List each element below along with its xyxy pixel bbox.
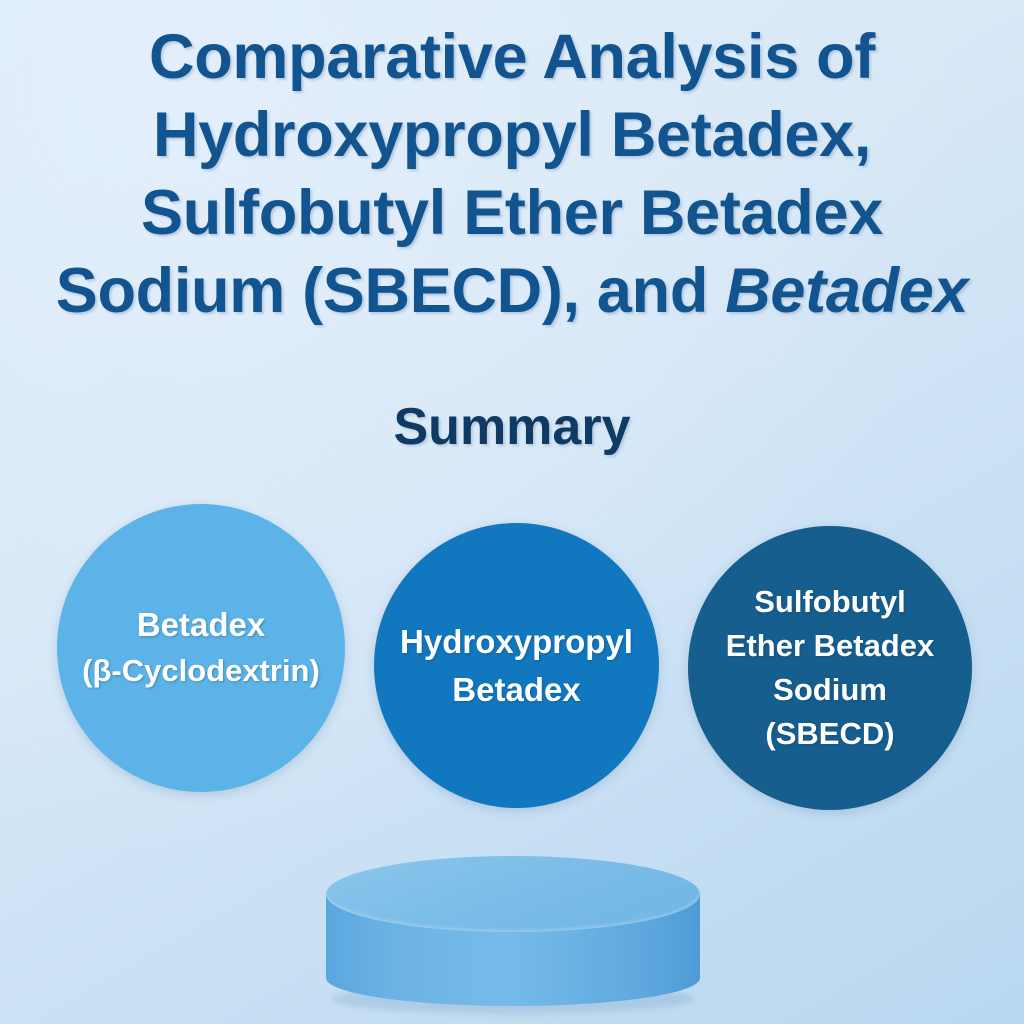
title-line-1: Comparative Analysis of	[0, 18, 1024, 96]
bubble-hydroxypropyl-betadex: Hydroxypropyl Betadex	[374, 523, 659, 808]
bubble-betadex: Betadex (β-Cyclodextrin)	[57, 504, 345, 792]
title-line-3: Sulfobutyl Ether Betadex	[0, 174, 1024, 252]
title-line-4-text: Sodium (SBECD), and	[56, 256, 726, 326]
bubble-sbecd-line-3: Sodium	[773, 668, 887, 712]
bubble-hpb-line-2: Betadex	[452, 666, 580, 714]
podium-top-surface	[326, 856, 700, 932]
title-line-2: Hydroxypropyl Betadex,	[0, 96, 1024, 174]
bubble-sbecd-line-1: Sulfobutyl	[754, 580, 906, 624]
bubble-betadex-line-2: (β-Cyclodextrin)	[82, 648, 320, 694]
bubble-betadex-line-1: Betadex	[137, 602, 265, 648]
bubble-sbecd-line-2: Ether Betadex	[726, 624, 934, 668]
podium-cylinder	[326, 856, 700, 1018]
bubble-sbecd-line-4: (SBECD)	[765, 712, 894, 756]
infographic-canvas: Comparative Analysis of Hydroxypropyl Be…	[0, 0, 1024, 1024]
title-line-4-emphasis: Betadex	[725, 256, 968, 326]
bubble-hpb-line-1: Hydroxypropyl	[400, 618, 633, 666]
bubble-sulfobutyl-ether-betadex-sodium: Sulfobutyl Ether Betadex Sodium (SBECD)	[688, 526, 972, 810]
title-line-4: Sodium (SBECD), and Betadex	[0, 252, 1024, 330]
summary-heading: Summary	[0, 396, 1024, 458]
page-title: Comparative Analysis of Hydroxypropyl Be…	[0, 18, 1024, 330]
